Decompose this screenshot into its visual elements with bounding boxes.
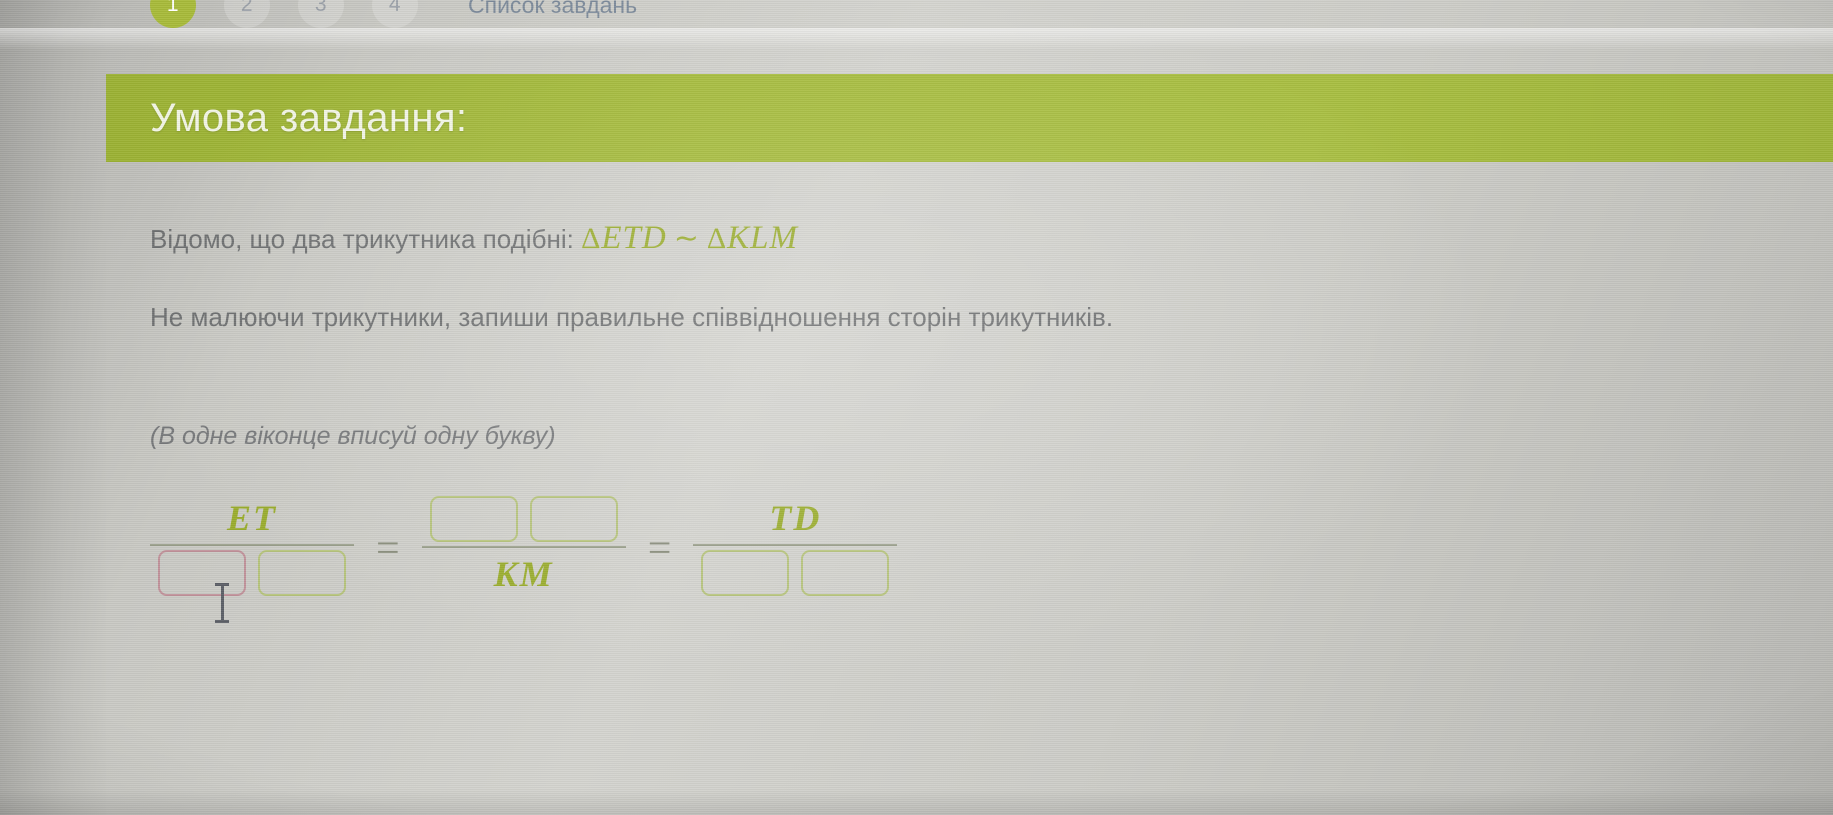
step-button-3[interactable]: 3 [298, 0, 344, 28]
fraction-2-numerator [422, 492, 626, 546]
statement-hint: (В одне віконце вписуй одну букву) [150, 422, 556, 451]
answer-input-3a[interactable] [701, 550, 789, 596]
answer-input-1b[interactable] [258, 550, 346, 596]
answer-input-1a[interactable] [158, 550, 246, 596]
task-list-link[interactable]: Список завдань [468, 0, 637, 19]
step-button-1-label: 1 [167, 0, 179, 17]
step-button-1[interactable]: 1 [150, 0, 196, 28]
fraction-2-denominator: KM [476, 548, 572, 600]
answer-input-2b[interactable] [530, 496, 618, 542]
fraction-1: ET [150, 492, 354, 600]
fraction-3-denominator [693, 546, 897, 600]
triangle-glyph-left: Δ [581, 222, 601, 255]
screen-surface: 1 2 3 4 Список завдань Умова завдання: В… [0, 0, 1833, 815]
topnav-shadow [0, 28, 1833, 50]
statement-line-2: Не малюючи трикутники, запиши правильне … [150, 302, 1113, 333]
statement-line-1-prefix: Відомо, що два трикутника подібні: [150, 224, 581, 254]
photographed-screen: 1 2 3 4 Список завдань Умова завдання: В… [0, 0, 1833, 815]
triangle-label-etd: ETD [601, 220, 666, 256]
step-button-2-label: 2 [241, 0, 253, 17]
step-button-4-label: 4 [389, 0, 401, 17]
statement-line-1: Відомо, що два трикутника подібні: ΔETD∼… [150, 220, 798, 257]
step-button-4[interactable]: 4 [372, 0, 418, 28]
fraction-3: TD [693, 492, 897, 600]
equals-sign-2: = [626, 525, 694, 573]
answer-input-2a[interactable] [430, 496, 518, 542]
fraction-1-denominator [150, 546, 354, 600]
step-button-3-label: 3 [315, 0, 327, 17]
fraction-2: KM [422, 492, 626, 600]
condition-header-bar: Умова завдання: [106, 74, 1833, 162]
triangle-label-klm: KLM [727, 220, 798, 256]
fraction-2-denominator-label: KM [484, 553, 564, 595]
equals-sign-1: = [354, 525, 422, 573]
proportion-equation: ET = KM [150, 492, 897, 600]
triangle-glyph-right: Δ [707, 222, 727, 255]
task-content: Відомо, що два трикутника подібні: ΔETD∼… [106, 162, 1833, 815]
fraction-3-numerator-label: TD [759, 497, 831, 539]
step-navigation: 1 2 3 4 Список завдань [0, 0, 1833, 28]
answer-input-3b[interactable] [801, 550, 889, 596]
similar-glyph: ∼ [667, 222, 707, 255]
fraction-1-numerator-label: ET [217, 497, 287, 539]
similarity-expression: ΔETD∼ΔKLM [581, 220, 798, 256]
page-left-gutter [0, 0, 106, 815]
fraction-3-numerator: TD [751, 492, 839, 544]
fraction-1-numerator: ET [209, 492, 295, 544]
step-button-2[interactable]: 2 [224, 0, 270, 28]
page-title: Умова завдання: [150, 96, 467, 141]
